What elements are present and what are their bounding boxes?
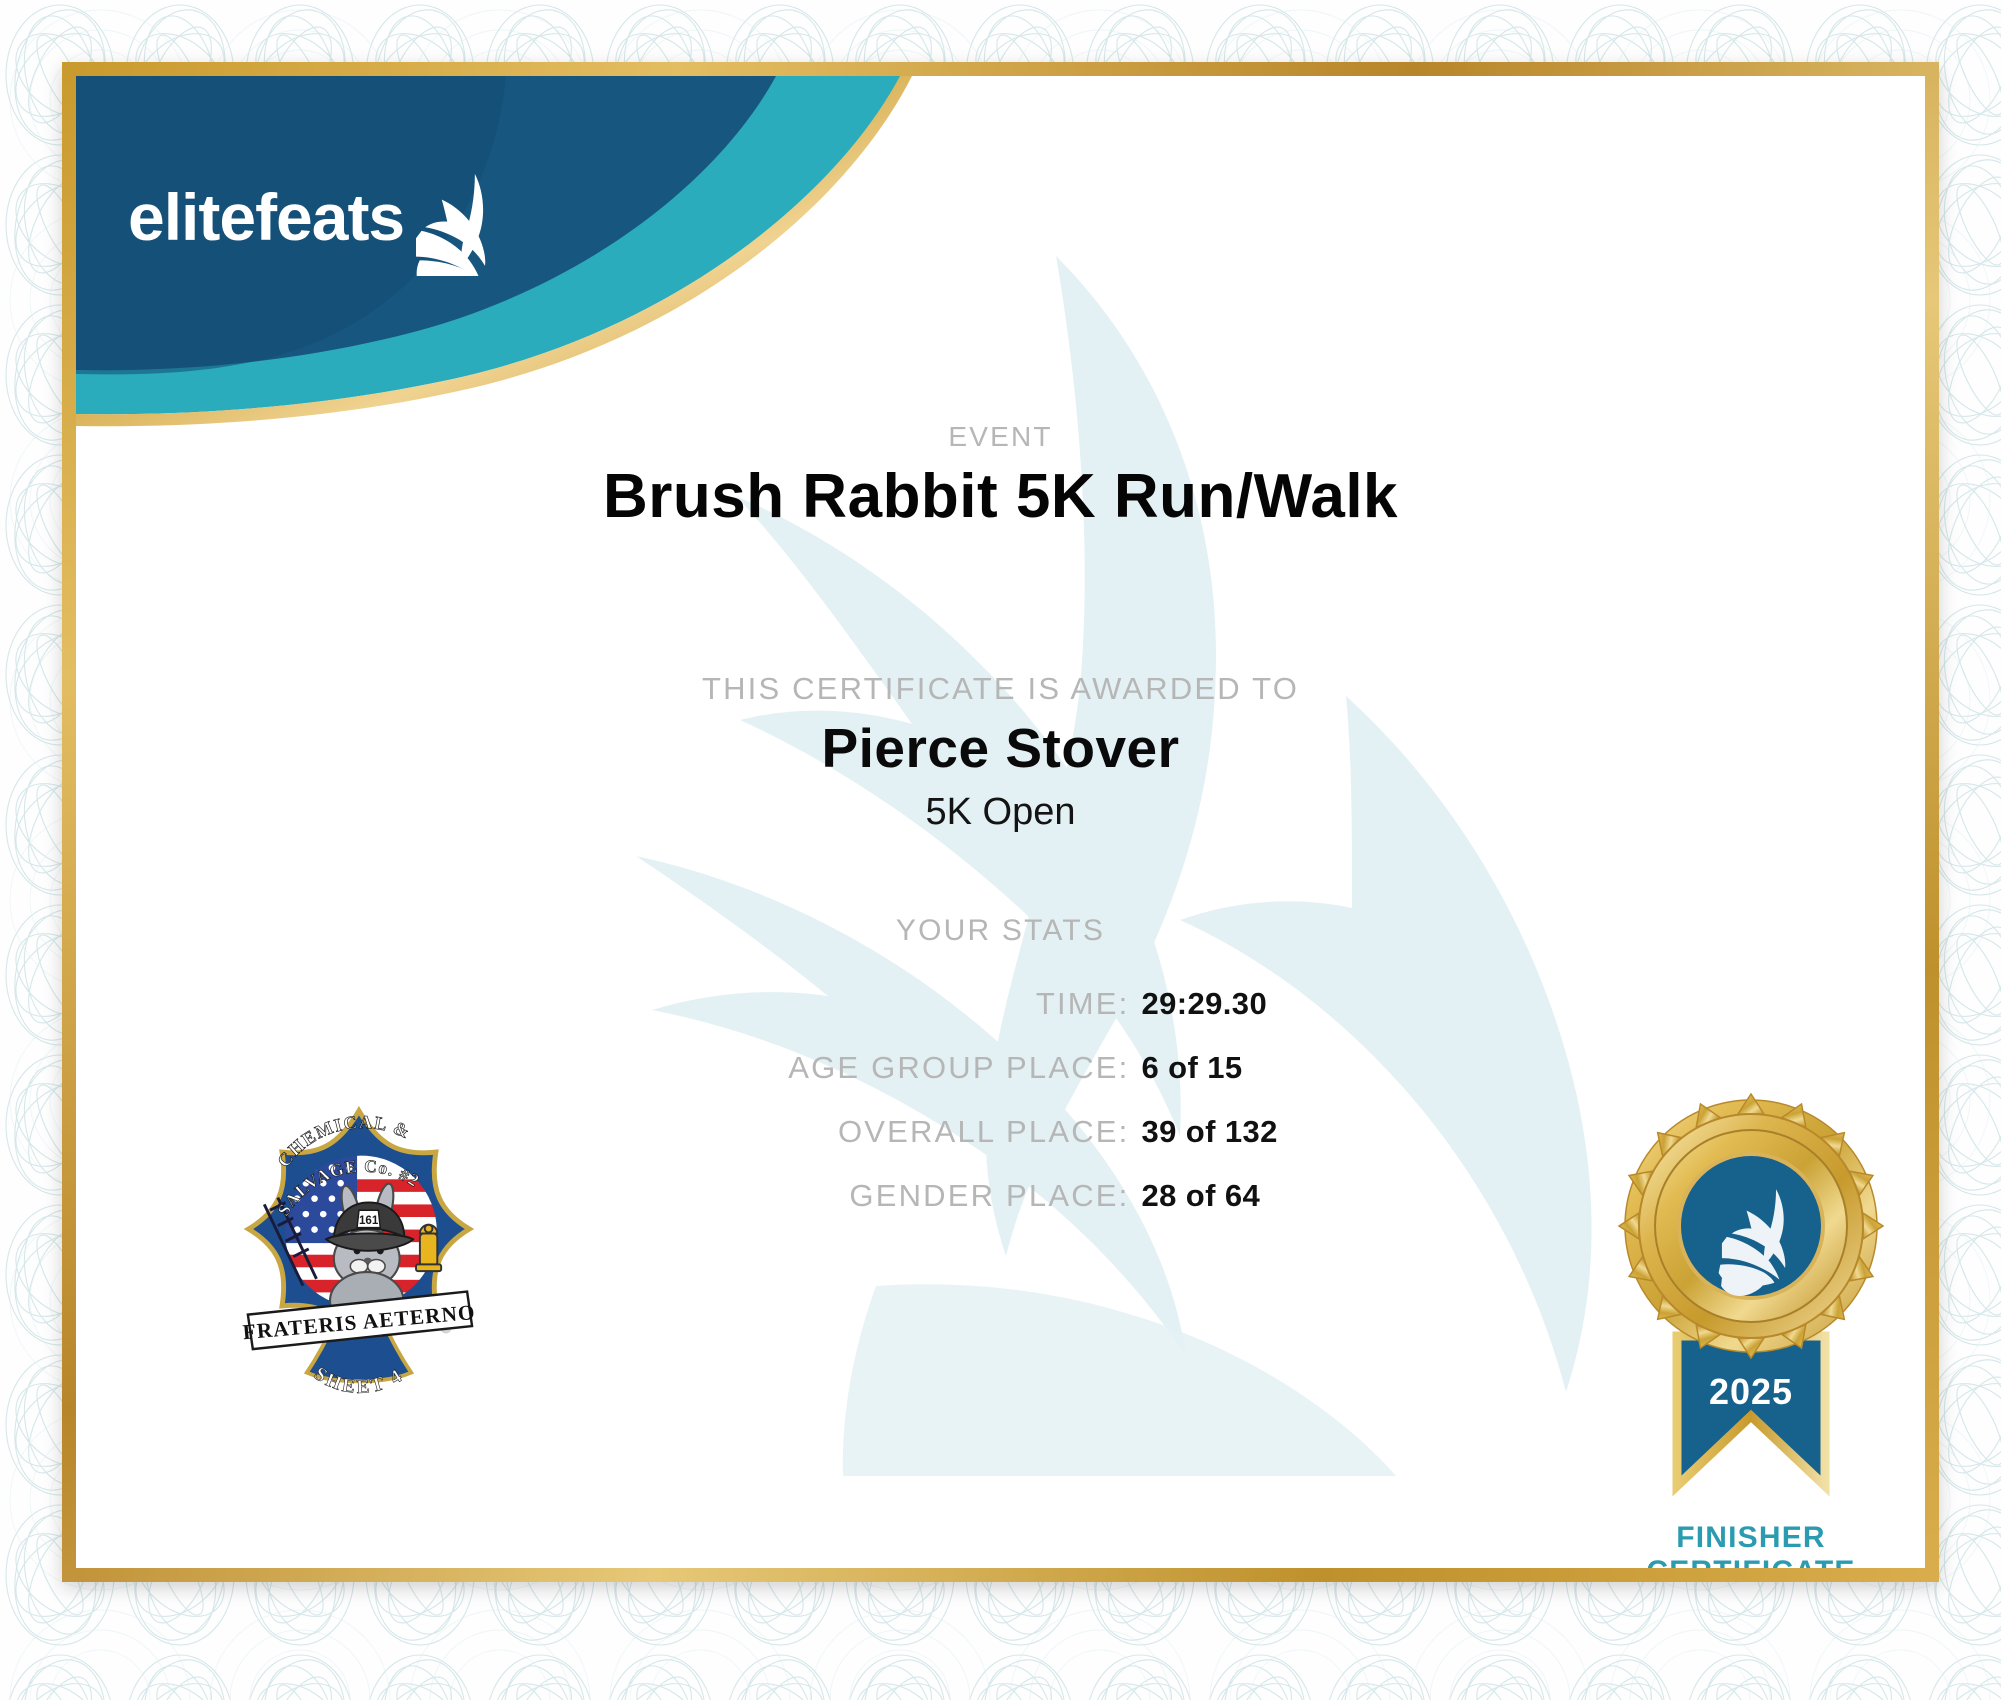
stat-key: AGE GROUP PLACE: [660,1050,1130,1086]
fire-department-badge-icon: 161 CHEMICAL & SALVAGE Co. #2 FRATER [214,1096,504,1396]
stat-key: GENDER PLACE: [660,1178,1130,1214]
stat-value: 28 of 64 [1142,1178,1342,1214]
division-name: 5K Open [76,791,1925,834]
event-label: EVENT [76,421,1925,453]
event-title: Brush Rabbit 5K Run/Walk [76,461,1925,532]
certificate-paper: elitefeats EVENT Brush Rabbit 5K Run/Wal… [76,76,1925,1568]
elitefeats-logo: elitefeats [128,166,528,276]
helmet-number: 161 [359,1214,379,1227]
medal-caption: FINISHER CERTIFICATE [1581,1521,1921,1568]
medal-caption-line-2: CERTIFICATE [1581,1555,1921,1568]
stat-value: 6 of 15 [1142,1050,1342,1086]
awarded-to-label: THIS CERTIFICATE IS AWARDED TO [76,671,1925,707]
svg-text:elitefeats: elitefeats [128,180,404,254]
stat-key: OVERALL PLACE: [660,1114,1130,1150]
finisher-medal-icon: 2025 [1601,1086,1901,1506]
certificate-page: elitefeats EVENT Brush Rabbit 5K Run/Wal… [0,0,2001,1700]
recipient-name: Pierce Stover [76,716,1925,780]
medal-year: 2025 [1709,1371,1793,1412]
medal-caption-line-1: FINISHER [1581,1521,1921,1555]
certificate-frame: elitefeats EVENT Brush Rabbit 5K Run/Wal… [62,62,1939,1582]
your-stats-label: YOUR STATS [76,914,1925,948]
stat-value: 39 of 132 [1142,1114,1342,1150]
stat-row: TIME: 29:29.30 [76,986,1925,1022]
stat-row: AGE GROUP PLACE: 6 of 15 [76,1050,1925,1086]
stat-value: 29:29.30 [1142,986,1342,1022]
stat-key: TIME: [660,986,1130,1022]
